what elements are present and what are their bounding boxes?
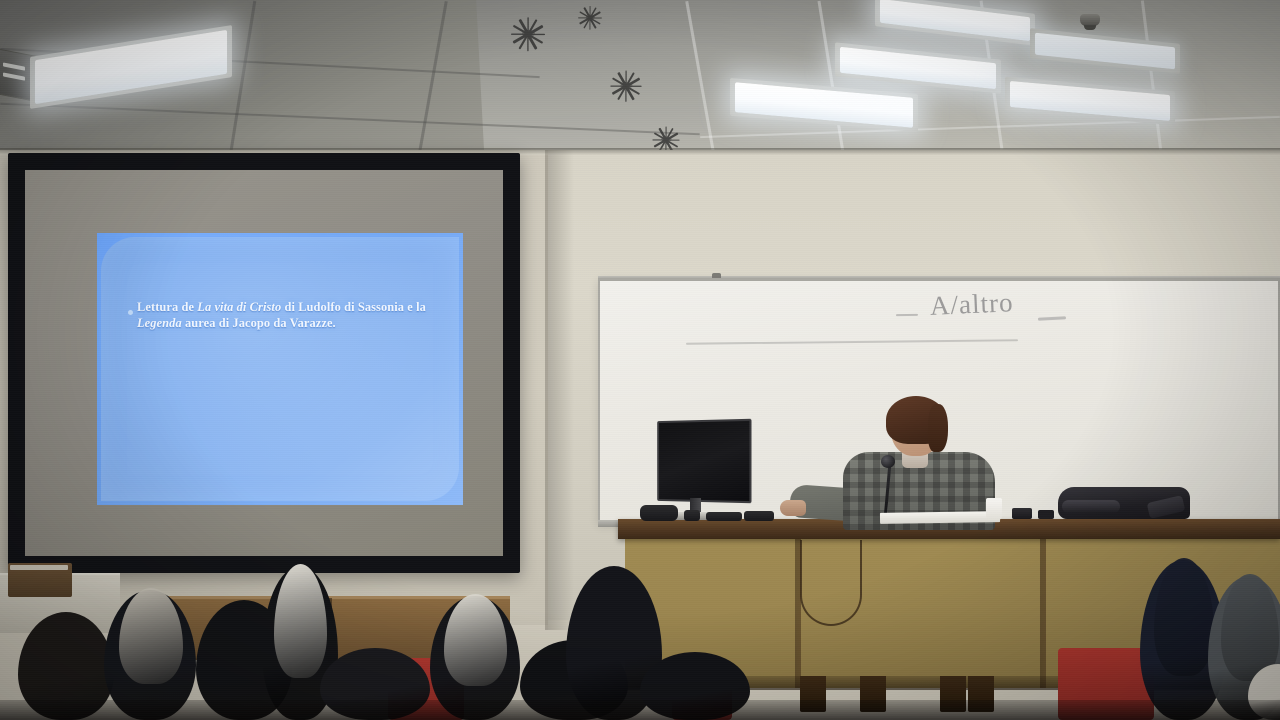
projected-slide: Lettura de La vita di Cristo di Ludolfo … xyxy=(97,233,463,505)
desk-device-right-2[interactable] xyxy=(1038,510,1054,519)
air-diffuser-vent-icon xyxy=(569,7,611,28)
air-diffuser-vent-icon xyxy=(498,18,558,48)
slide-bullet-icon xyxy=(128,310,133,315)
slide-text: Lettura de La vita di Cristo di Ludolfo … xyxy=(137,299,449,331)
desk-panel-divider xyxy=(1040,538,1046,688)
desk-device-center[interactable] xyxy=(744,511,774,521)
bag-highlight xyxy=(1062,500,1120,513)
air-diffuser-vent-icon xyxy=(598,71,653,99)
wall-shadow xyxy=(548,150,574,630)
slide-line1-suffix: di Ludolfo di Sassonia e xyxy=(281,300,413,314)
slide-glow xyxy=(97,233,463,505)
microphone-icon xyxy=(881,455,895,468)
ceiling-tile-seam xyxy=(685,1,717,169)
whiteboard-mark xyxy=(896,314,918,316)
whiteboard-underline xyxy=(686,339,1018,344)
keyboard[interactable] xyxy=(706,512,742,521)
slide-line2-prefix: la xyxy=(416,300,426,314)
whiteboard-mark xyxy=(1038,316,1066,320)
lecturer-hair-side xyxy=(928,404,948,452)
whiteboard-handwriting: A/altro xyxy=(929,287,1014,322)
foreground-shadow xyxy=(0,700,1280,720)
ledge-wooden-box xyxy=(8,563,72,597)
ceiling-tile-seam xyxy=(818,1,846,159)
slide-line2-suffix: aurea di Jacopo da Varazze. xyxy=(182,316,336,330)
lecture-hall-photo: A/altro Lettura de La vita di Cristo di … xyxy=(0,0,1280,720)
desk-device-right[interactable] xyxy=(1012,508,1032,519)
ceiling-tile-seam xyxy=(1141,0,1162,149)
desk-device-left[interactable] xyxy=(640,505,678,521)
desk-device-small[interactable] xyxy=(684,510,700,521)
slide-line1-prefix: Lettura de xyxy=(137,300,197,314)
projection-screen: Lettura de La vita di Cristo di Ludolfo … xyxy=(8,153,520,573)
paper-cup[interactable] xyxy=(986,498,1002,520)
papers-on-desk[interactable] xyxy=(880,511,1000,524)
smoke-detector-icon xyxy=(1080,14,1100,26)
lecturer-hand xyxy=(780,500,806,516)
hanging-cable xyxy=(800,540,862,626)
slide-line2-italic: Legenda xyxy=(137,316,182,330)
projection-screen-surface: Lettura de La vita di Cristo di Ludolfo … xyxy=(25,170,503,556)
ceiling xyxy=(0,0,1280,170)
slide-line1-italic: La vita di Cristo xyxy=(197,300,281,314)
computer-monitor-rear[interactable] xyxy=(657,419,751,503)
